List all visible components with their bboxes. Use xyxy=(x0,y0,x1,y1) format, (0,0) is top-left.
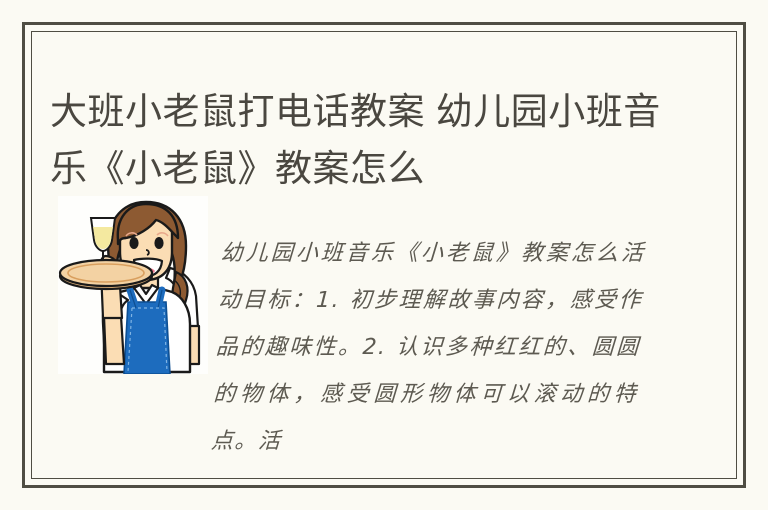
left-eye xyxy=(129,237,138,249)
page-content: 大班小老鼠打电话教案 幼儿园小班音乐《小老鼠》教案怎么 xyxy=(0,0,768,510)
page-title: 大班小老鼠打电话教案 幼儿园小班音乐《小老鼠》教案怎么 xyxy=(50,83,670,197)
tray xyxy=(60,260,152,289)
article-body-text: 幼儿园小班音乐《小老鼠》教案怎么活动目标：1. 初步理解故事内容，感受作品的趣味… xyxy=(210,230,646,465)
illustration-waitress xyxy=(58,196,208,374)
article-page: 大班小老鼠打电话教案 幼儿园小班音乐《小老鼠》教案怎么 xyxy=(0,0,768,510)
apron xyxy=(124,290,170,374)
article-body-block: 幼儿园小班音乐《小老鼠》教案怎么活动目标：1. 初步理解故事内容，感受作品的趣味… xyxy=(222,208,646,487)
right-eye xyxy=(154,237,163,249)
waitress-illustration-svg xyxy=(58,196,208,374)
